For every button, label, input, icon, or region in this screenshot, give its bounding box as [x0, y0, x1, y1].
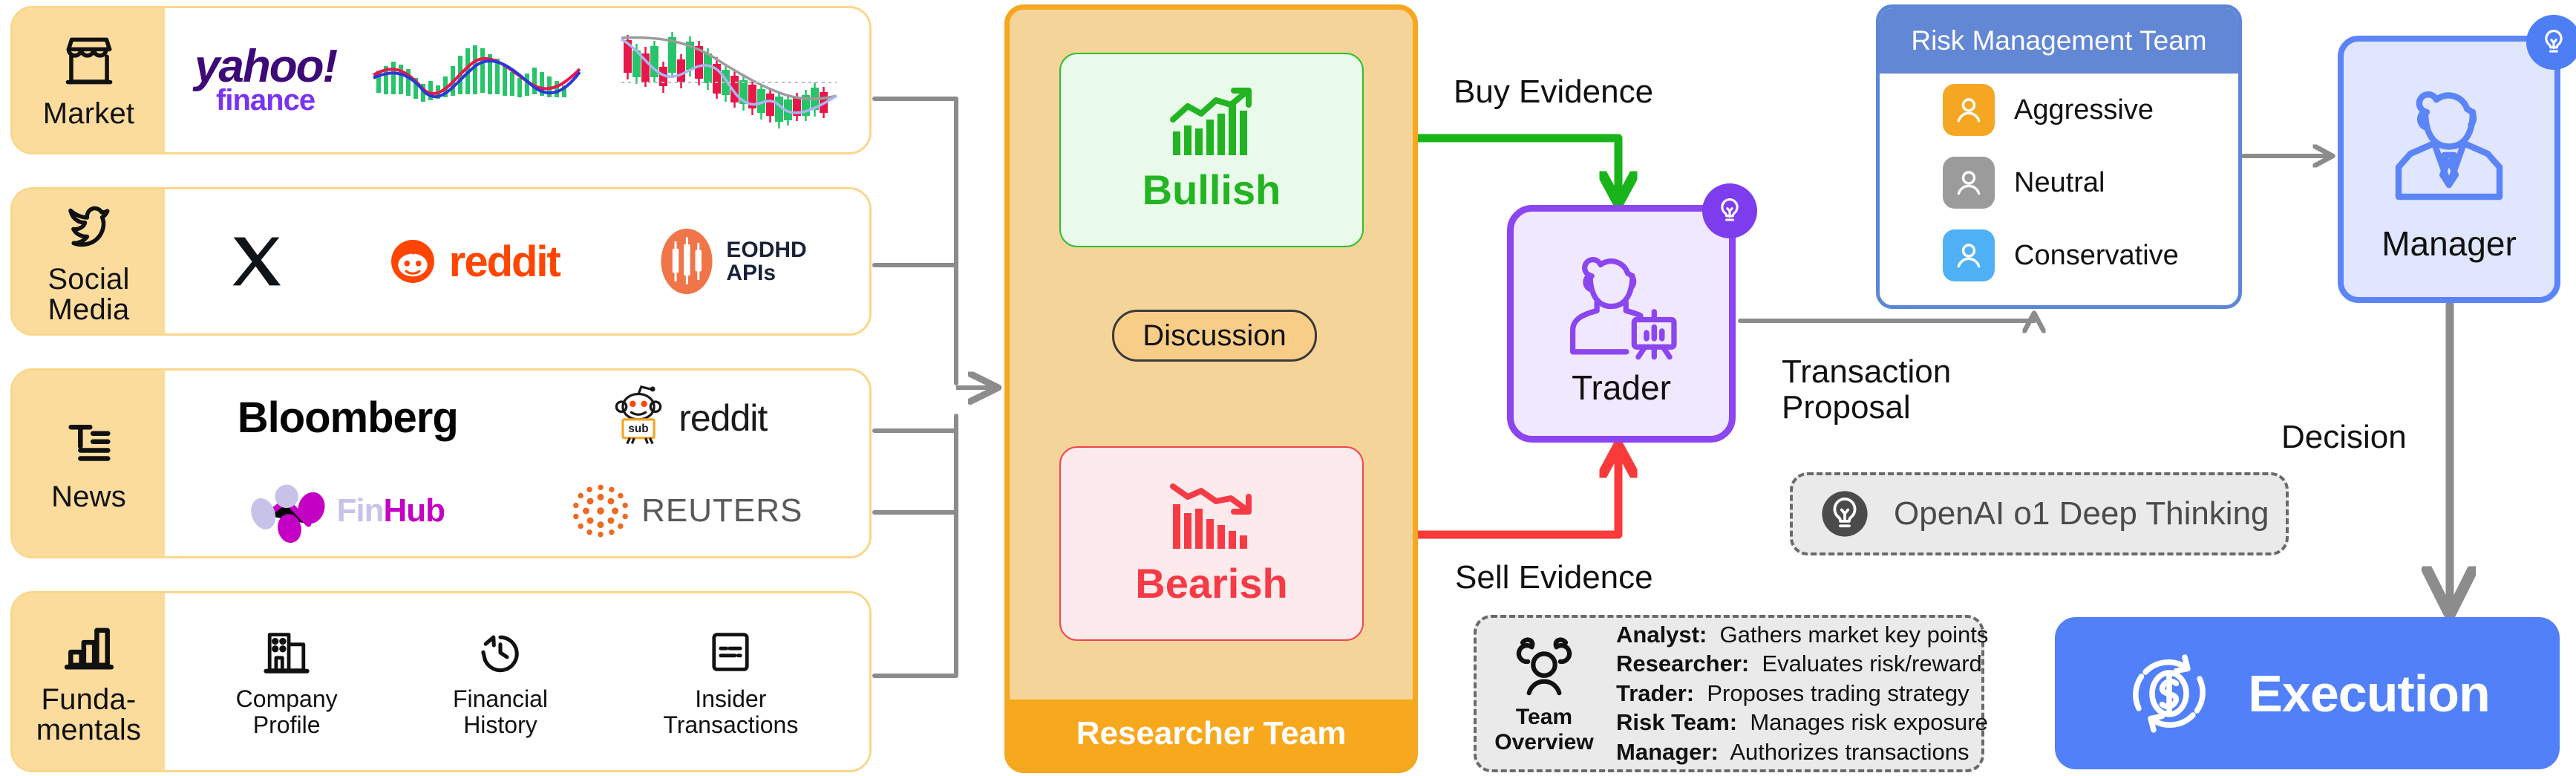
bearish-label: Bearish	[1135, 559, 1287, 607]
execution-label: Execution	[2248, 664, 2490, 723]
openai-badge-label: OpenAI o1 Deep Thinking	[1894, 495, 2269, 532]
reuters-logo: REUTERS	[570, 480, 802, 541]
risk-team-member-neutral[interactable]: Neutral	[1880, 146, 2238, 219]
label-decision: Decision	[2281, 420, 2407, 455]
bloomberg-logo: Bloomberg	[238, 393, 458, 443]
risk-team-member-aggressive[interactable]: Aggressive	[1880, 74, 2238, 146]
source-card-social-media[interactable]: SocialMedia reddit	[10, 187, 872, 336]
source-tab-social-media: SocialMedia	[13, 189, 165, 333]
bullish-label: Bullish	[1142, 166, 1281, 214]
risk-team-label-conservative: Conservative	[2014, 240, 2179, 272]
lightbulb-circle-icon	[1818, 487, 1871, 541]
eodhd-candle-icon	[658, 226, 716, 297]
source-card-news[interactable]: News Bloomberg sub reddit	[10, 368, 872, 558]
source-body-fundamentals: Company Profile Financial History	[165, 593, 869, 770]
source-label-fundamentals: Funda- mentals	[36, 685, 141, 746]
team-overview-title-2: Overview	[1494, 730, 1593, 754]
manager-label: Manager	[2382, 224, 2517, 264]
finnhub-logo: FinHub	[250, 478, 445, 544]
eodhd-apis-logo: EODHD APIs	[658, 226, 806, 297]
label-transaction-proposal: Transaction Proposal	[1782, 354, 1951, 426]
fundamental-insider-transactions[interactable]: Insider Transactions	[663, 625, 798, 738]
document-lines-icon	[704, 625, 757, 679]
fundamental-financial-history[interactable]: Financial History	[453, 625, 548, 738]
person-avatar-icon	[1943, 229, 1995, 281]
researcher-team-label: Researcher Team	[1076, 715, 1347, 752]
svg-text:sub: sub	[629, 423, 649, 435]
manager-person-suit-icon	[2371, 75, 2527, 224]
team-overview-legend: Team Overview Analyst: Gathers market ke…	[1474, 615, 1984, 772]
team-overview-row: Trader: Proposes trading strategy	[1616, 679, 1988, 708]
bar-chart-icon	[60, 618, 118, 676]
team-overview-row: Manager: Authorizes transactions	[1616, 738, 1988, 766]
risk-team-label-aggressive: Aggressive	[2014, 94, 2154, 126]
reuters-dots-icon	[570, 480, 631, 541]
twitter-bird-icon	[60, 198, 118, 255]
bullish-card[interactable]: Bullish	[1059, 53, 1364, 247]
discussion-label: Discussion	[1142, 319, 1286, 353]
source-label-news: News	[51, 482, 126, 512]
discussion-pill[interactable]: Discussion	[1112, 310, 1317, 362]
execution-card[interactable]: Execution	[2055, 617, 2560, 769]
reddit-mascot-icon	[385, 234, 440, 289]
source-body-market: yahoo! finance	[165, 8, 869, 152]
team-overview-title-1: Team	[1516, 705, 1572, 729]
dollar-refresh-cycle-icon	[2125, 649, 2214, 738]
trader-card[interactable]: Trader	[1507, 205, 1736, 443]
reddit-logo: reddit	[385, 234, 560, 289]
source-card-fundamentals[interactable]: Funda- mentals Company Profile	[10, 591, 872, 772]
manager-card[interactable]: Manager	[2338, 36, 2560, 303]
source-body-social-media: reddit EODHD APIs	[165, 189, 869, 333]
team-overview-row: Analyst: Gathers market key points	[1616, 621, 1988, 649]
risk-team-title: Risk Management Team	[1911, 25, 2206, 56]
person-avatar-icon	[1943, 157, 1995, 209]
source-card-market[interactable]: Market yahoo! finance	[10, 6, 872, 154]
source-tab-market: Market	[13, 8, 165, 152]
uptrend-bar-chart-icon	[1167, 87, 1256, 161]
transaction-proposal-arrow	[1740, 315, 2034, 321]
risk-team-member-conservative[interactable]: Conservative	[1880, 219, 2238, 292]
source-body-news: Bloomberg sub reddit	[165, 371, 869, 556]
source-to-researcher-connector	[875, 99, 956, 676]
macd-candlestick-chart	[369, 32, 584, 128]
person-avatar-icon	[1943, 84, 1995, 136]
downtrend-bar-chart-icon	[1167, 480, 1256, 555]
risk-team-header: Risk Management Team	[1880, 8, 2238, 74]
office-building-icon	[260, 625, 313, 679]
trader-person-presentation-icon	[1555, 241, 1688, 371]
lightbulb-icon[interactable]	[1702, 183, 1757, 238]
x-twitter-logo	[227, 232, 287, 291]
researcher-team-footer: Researcher Team	[1010, 700, 1413, 768]
source-tab-news: News	[13, 371, 165, 556]
trader-label: Trader	[1572, 368, 1671, 408]
fundamental-company-profile[interactable]: Company Profile	[236, 625, 338, 738]
storefront-icon	[60, 32, 118, 90]
source-label-market: Market	[43, 99, 134, 129]
people-group-icon	[1508, 632, 1580, 700]
buy-evidence-arrow	[1418, 138, 1618, 199]
team-overview-row: Researcher: Evaluates risk/reward	[1616, 650, 1988, 678]
clock-history-icon	[474, 625, 527, 679]
article-text-icon	[60, 415, 118, 473]
openai-deep-thinking-badge[interactable]: OpenAI o1 Deep Thinking	[1790, 472, 2289, 555]
sell-evidence-arrow	[1418, 450, 1618, 535]
researcher-team-panel[interactable]: Bullish Discussion Bearish Researcher Te…	[1004, 4, 1418, 773]
risk-team-label-neutral: Neutral	[2014, 167, 2105, 199]
downtrend-candlestick-chart	[617, 25, 840, 136]
subreddit-mascot-icon: sub	[606, 384, 671, 452]
source-tab-fundamentals: Funda- mentals	[13, 593, 165, 770]
lightbulb-icon[interactable]	[2526, 15, 2576, 70]
label-buy-evidence: Buy Evidence	[1454, 74, 1653, 110]
bearish-card[interactable]: Bearish	[1059, 446, 1364, 641]
subreddit-logo: sub reddit	[606, 384, 767, 452]
team-overview-row: Risk Team: Manages risk exposure	[1616, 708, 1988, 737]
label-sell-evidence: Sell Evidence	[1455, 560, 1653, 596]
finnhub-mark-icon	[250, 478, 329, 544]
risk-management-team-panel[interactable]: Risk Management Team Aggressive Neutral …	[1876, 4, 2242, 309]
source-label-social-media: SocialMedia	[48, 264, 129, 325]
yahoo-finance-logo: yahoo! finance	[194, 48, 336, 114]
